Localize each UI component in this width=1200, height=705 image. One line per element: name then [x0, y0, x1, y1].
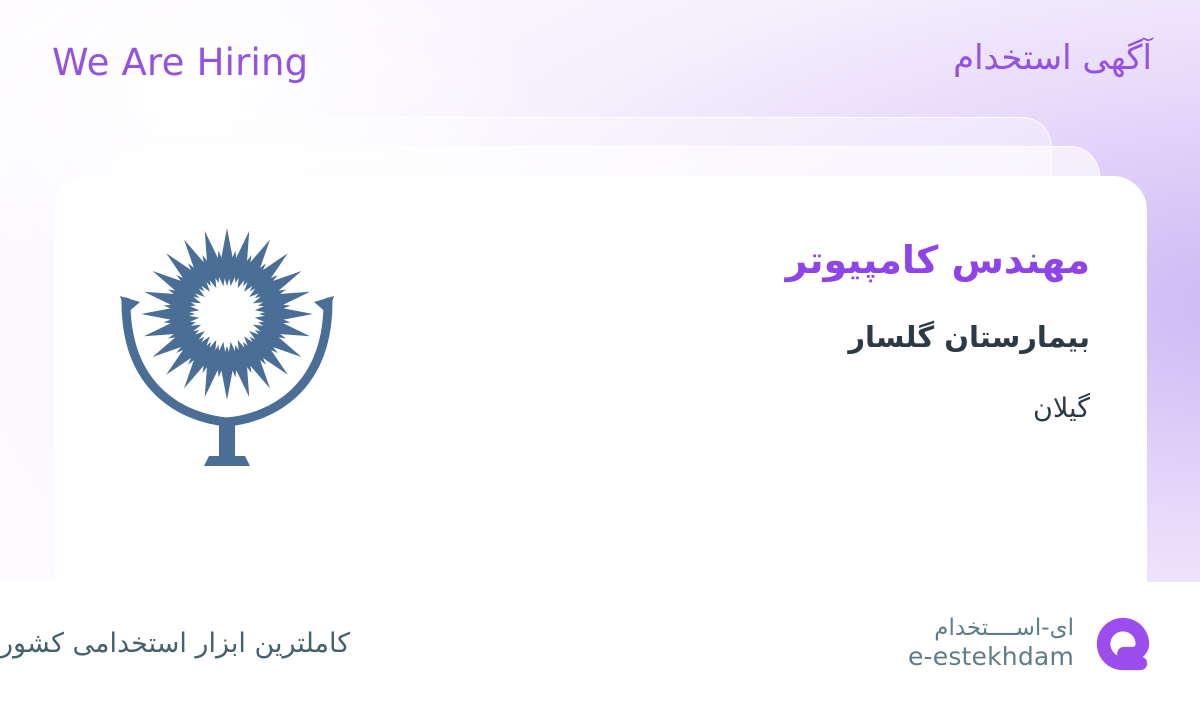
brand-name-fa: ای-اســــتخدام — [934, 615, 1074, 642]
hero-stage: مهندس کامپیوتر بیمارستان گلسار گیلان We … — [0, 0, 1200, 582]
footer-tagline: کاملترین ابزار استخدامی کشور — [0, 628, 350, 659]
footer-bar: کاملترین ابزار استخدامی کشور ای-اســــتخ… — [0, 582, 1200, 705]
hiring-headline-en: We Are Hiring — [52, 41, 308, 84]
hiring-headline-fa: آگهی استخدام — [953, 38, 1152, 78]
brand-lockup[interactable]: ای-اســــتخدام e-estekhdam — [908, 613, 1154, 675]
brand-text: ای-اســــتخدام e-estekhdam — [908, 615, 1074, 672]
job-location: گیلان — [340, 391, 1090, 427]
job-card[interactable]: مهندس کامپیوتر بیمارستان گلسار گیلان — [55, 176, 1147, 582]
hero-header: We Are Hiring آگهی استخدام — [0, 0, 1200, 110]
e-estekhdam-logo-icon — [1092, 613, 1154, 675]
company-logo — [114, 222, 340, 472]
company-name: بیمارستان گلسار — [340, 318, 1090, 357]
job-title: مهندس کامپیوتر — [340, 235, 1090, 286]
job-details: مهندس کامپیوتر بیمارستان گلسار گیلان — [340, 235, 1090, 428]
brand-name-en: e-estekhdam — [908, 642, 1074, 672]
